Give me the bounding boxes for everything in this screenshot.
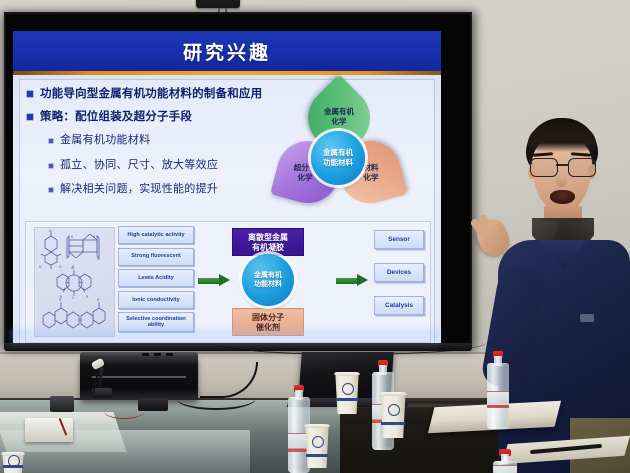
property-item: Lewis Acidity xyxy=(118,269,194,287)
center-top-box: 离散型金属 有机凝胶 xyxy=(232,228,304,256)
venn-center-line: 功能材料 xyxy=(323,158,353,168)
property-item: Ionic conductivity xyxy=(118,291,194,309)
svg-text:N: N xyxy=(97,257,100,261)
wall-display: 研究兴趣 功能导向型金属有机功能材料的制备和应用 策略：配位组装及超分子手段 xyxy=(4,12,472,347)
conference-room-scene: 研究兴趣 功能导向型金属有机功能材料的制备和应用 策略：配位组装及超分子手段 xyxy=(0,0,630,473)
cup-band xyxy=(306,454,328,457)
paper-cup xyxy=(0,452,26,473)
paper-cup xyxy=(303,424,331,468)
cup-logo-icon xyxy=(342,383,354,395)
bullet-text: 金属有机功能材料 xyxy=(60,134,150,148)
cup-rim xyxy=(379,392,407,396)
glasses-bridge xyxy=(556,164,568,166)
application-item: Catalysis xyxy=(374,296,424,315)
bullet-item: 金属有机功能材料 xyxy=(49,134,285,148)
paper-cup xyxy=(333,372,361,414)
center-top-line: 离散型金属 xyxy=(233,233,303,243)
property-item: High catalytic activity xyxy=(118,226,194,244)
flow-arrow-right-icon xyxy=(198,274,230,287)
venn-diagram: 金属有机 化学 超分子 化学 材料 化学 金属有机 功能材料 xyxy=(275,87,403,213)
presentation-slide: 研究兴趣 功能导向型金属有机功能材料的制备和应用 策略：配位组装及超分子手段 xyxy=(13,31,441,351)
svg-text:C: C xyxy=(72,296,75,300)
presenter-mouth xyxy=(550,190,575,204)
bullet-square-icon xyxy=(27,91,33,97)
venn-petal-top-label: 金属有机 化学 xyxy=(311,107,367,127)
cup-band xyxy=(336,398,358,401)
center-bottom-line: 固体分子 xyxy=(233,313,303,323)
cup-rim xyxy=(304,424,330,428)
svg-text:R: R xyxy=(97,298,100,302)
paper-cup xyxy=(378,392,408,438)
center-top-line: 有机凝胶 xyxy=(233,243,303,253)
bullet-text: 策略：配位组装及超分子手段 xyxy=(40,110,192,124)
water-bottle xyxy=(487,351,509,429)
cup-rim xyxy=(334,372,360,376)
application-item: Sensor xyxy=(374,230,424,249)
property-list: High catalytic activity Strong fluoresce… xyxy=(118,226,194,336)
venn-center-circle: 金属有机 功能材料 xyxy=(311,131,365,185)
property-item: Strong fluorescent xyxy=(118,248,194,266)
svg-text:R: R xyxy=(86,295,89,299)
bullet-text: 功能导向型金属有机功能材料的制备和应用 xyxy=(40,87,262,101)
page-title: 研究兴趣 xyxy=(13,38,441,65)
presenter-nose xyxy=(556,174,567,187)
glasses-lens-left xyxy=(530,158,558,177)
flow-arrow-right-icon xyxy=(336,274,368,287)
bullet-item: 策略：配位组装及超分子手段 xyxy=(27,110,285,124)
venn-label-line: 金属有机 xyxy=(311,107,367,117)
slide-body: 功能导向型金属有机功能材料的制备和应用 策略：配位组装及超分子手段 金属有机功能… xyxy=(13,75,441,351)
application-item: Devices xyxy=(374,263,424,282)
application-list: Sensor Devices Catalysis xyxy=(374,230,424,329)
venn-label-line: 化学 xyxy=(311,117,367,127)
center-circle: 金属有机 功能材料 xyxy=(242,254,294,306)
cup-logo-icon xyxy=(312,436,324,448)
property-item: Selective coordination ability xyxy=(118,312,194,332)
svg-text:R: R xyxy=(71,235,74,239)
console-speaker-grille xyxy=(92,376,186,378)
water-bottle xyxy=(493,449,517,473)
console-button[interactable] xyxy=(154,353,161,356)
bullet-square-icon xyxy=(49,139,53,143)
molecule-structures-icon: ArNN RR RN ArRR CRR xyxy=(35,228,114,336)
svg-text:N: N xyxy=(59,265,62,269)
svg-text:N: N xyxy=(39,265,42,269)
glasses-lens-right xyxy=(568,158,596,177)
presenter-hair-fringe xyxy=(528,122,596,152)
presenter-sweater-logo xyxy=(580,314,594,322)
microphone-base xyxy=(92,388,112,398)
bullet-item: 孤立、协同、尺寸、放大等效应 xyxy=(49,159,285,173)
svg-text:Ar: Ar xyxy=(49,229,53,233)
center-circle-line: 功能材料 xyxy=(254,280,282,289)
cup-band xyxy=(3,465,24,468)
cable xyxy=(176,386,256,410)
bottle-label xyxy=(493,465,517,473)
venn-center-line: 金属有机 xyxy=(323,148,353,158)
bullet-text: 孤立、协同、尺寸、放大等效应 xyxy=(60,159,218,173)
eyeglasses-icon xyxy=(529,158,595,175)
small-black-box xyxy=(50,396,74,412)
cable-red xyxy=(104,404,144,419)
bullet-square-icon xyxy=(49,164,53,168)
cup-band xyxy=(381,422,405,425)
white-device-box xyxy=(25,418,73,442)
molecule-structures-panel: ArNN RR RN ArRR CRR xyxy=(34,227,115,337)
console-top-panel xyxy=(80,352,198,358)
bullet-item: 功能导向型金属有机功能材料的制备和应用 xyxy=(27,87,285,101)
bullet-list: 功能导向型金属有机功能材料的制备和应用 策略：配位组装及超分子手段 金属有机功能… xyxy=(27,87,285,208)
workflow-diagram: ArNN RR RN ArRR CRR High catalytic activ… xyxy=(25,221,431,343)
bullet-text: 解决相关问题，实现性能的提升 xyxy=(60,183,218,197)
console-button[interactable] xyxy=(142,353,149,356)
console-button[interactable] xyxy=(166,353,173,356)
bottle-label-stripe xyxy=(487,405,509,408)
bullet-square-icon xyxy=(27,114,33,120)
center-circle-label: 金属有机 功能材料 xyxy=(254,271,282,289)
venn-center-label: 金属有机 功能材料 xyxy=(323,148,353,168)
center-circle-line: 金属有机 xyxy=(254,271,282,280)
center-stack: 离散型金属 有机凝胶 金属有机 功能材料 固体分子 催化剂 xyxy=(232,228,304,336)
svg-text:Ar: Ar xyxy=(71,266,75,270)
bullet-item: 解决相关问题，实现性能的提升 xyxy=(49,183,285,197)
bullet-square-icon xyxy=(49,188,53,192)
ceiling-camera-icon xyxy=(196,0,240,8)
